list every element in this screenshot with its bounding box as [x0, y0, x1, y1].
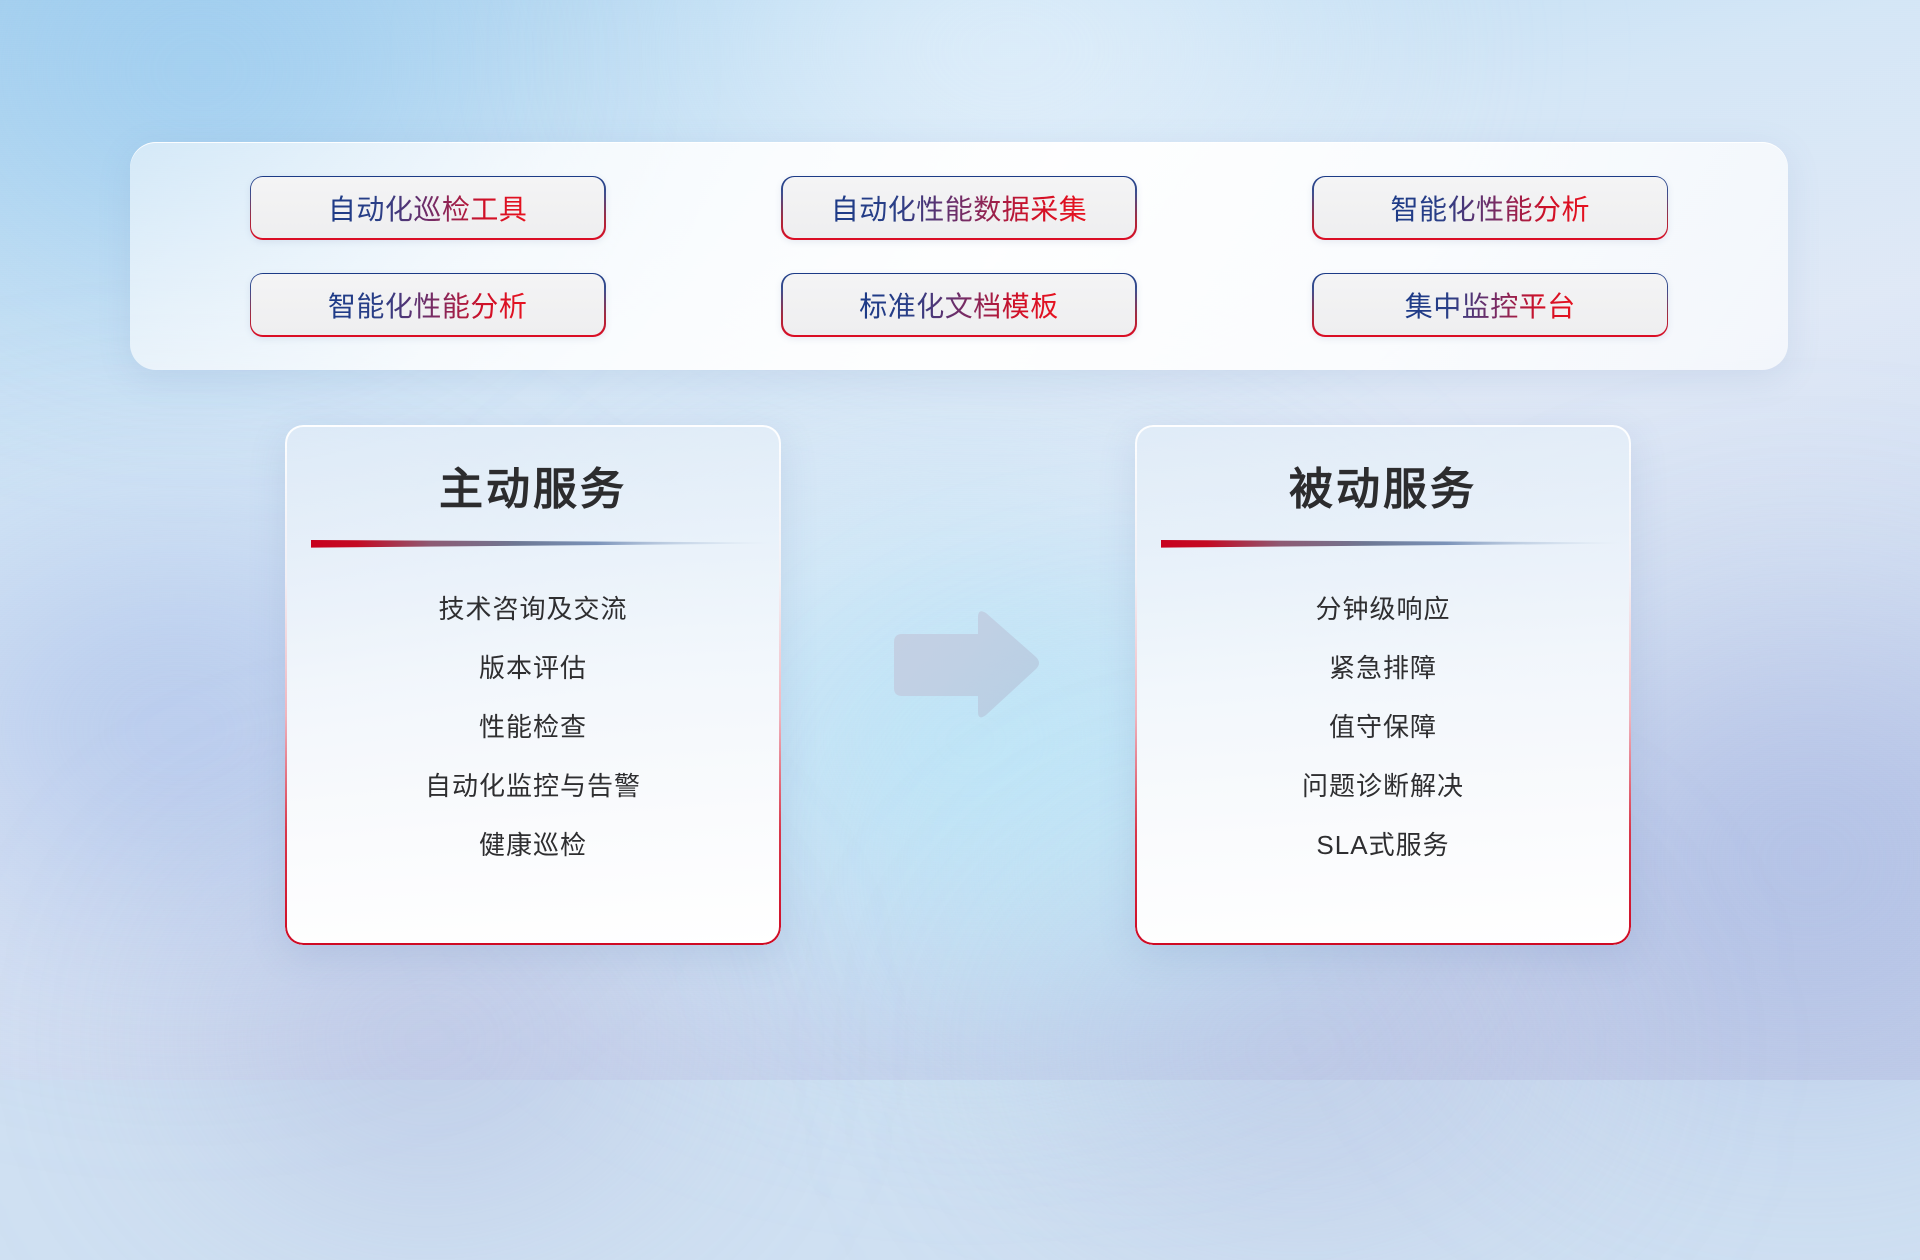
capability-pill-1[interactable]: 自动化巡检工具: [250, 176, 606, 240]
capability-pill-1-inner: 自动化巡检工具: [251, 177, 604, 238]
capability-panel: 自动化巡检工具 自动化性能数据采集 智能化性能分析 智能化性能分析 标准化文档模…: [130, 142, 1788, 370]
service-item: 版本评估: [285, 639, 781, 698]
service-card-proactive-divider: [311, 535, 771, 544]
service-item: 技术咨询及交流: [285, 580, 781, 639]
capability-pill-grid: 自动化巡检工具 自动化性能数据采集 智能化性能分析 智能化性能分析 标准化文档模…: [130, 142, 1788, 370]
capability-pill-5-label: 标准化文档模板: [859, 285, 1059, 325]
service-item: 值守保障: [1135, 698, 1631, 757]
capability-pill-6-inner: 集中监控平台: [1314, 274, 1667, 335]
service-item: 分钟级响应: [1135, 580, 1631, 639]
service-item: 紧急排障: [1135, 639, 1631, 698]
divider-taper-shape: [1161, 539, 1621, 548]
capability-pill-3-inner: 智能化性能分析: [1314, 177, 1667, 238]
capability-pill-6[interactable]: 集中监控平台: [1312, 273, 1668, 337]
capability-pill-4-inner: 智能化性能分析: [251, 274, 604, 335]
capability-pill-3-label: 智能化性能分析: [1391, 188, 1591, 228]
capability-pill-5[interactable]: 标准化文档模板: [781, 273, 1137, 337]
capability-pill-5-inner: 标准化文档模板: [783, 274, 1136, 335]
capability-pill-4[interactable]: 智能化性能分析: [250, 273, 606, 337]
service-card-proactive-list: 技术咨询及交流 版本评估 性能检查 自动化监控与告警 健康巡检: [285, 580, 781, 875]
service-item: 性能检查: [285, 698, 781, 757]
service-item: 健康巡检: [285, 816, 781, 875]
capability-pill-4-label: 智能化性能分析: [328, 285, 528, 325]
capability-pill-3[interactable]: 智能化性能分析: [1312, 176, 1668, 240]
arrow-right-icon: [884, 608, 1042, 722]
capability-pill-2-label: 自动化性能数据采集: [831, 188, 1088, 228]
service-item: 自动化监控与告警: [285, 757, 781, 816]
service-card-reactive-divider: [1161, 535, 1621, 544]
service-item: 问题诊断解决: [1135, 757, 1631, 816]
service-card-proactive-title: 主动服务: [285, 453, 781, 517]
service-card-reactive-list: 分钟级响应 紧急排障 值守保障 问题诊断解决 SLA式服务: [1135, 580, 1631, 875]
service-card-proactive[interactable]: 主动服务 技术咨询及交流 版本评估 性能检查 自动化监控与告警 健康巡检: [285, 425, 781, 945]
capability-pill-6-label: 集中监控平台: [1405, 285, 1576, 325]
service-item: SLA式服务: [1135, 816, 1631, 875]
divider-taper-shape: [311, 539, 771, 548]
capability-pill-2[interactable]: 自动化性能数据采集: [781, 176, 1137, 240]
flow-arrow: [884, 608, 1042, 722]
service-card-reactive-title: 被动服务: [1135, 453, 1631, 517]
capability-pill-2-inner: 自动化性能数据采集: [783, 177, 1136, 238]
service-card-reactive[interactable]: 被动服务 分钟级响应 紧急排障 值守保障 问题诊断解决 SLA式服务: [1135, 425, 1631, 945]
capability-pill-1-label: 自动化巡检工具: [328, 188, 528, 228]
